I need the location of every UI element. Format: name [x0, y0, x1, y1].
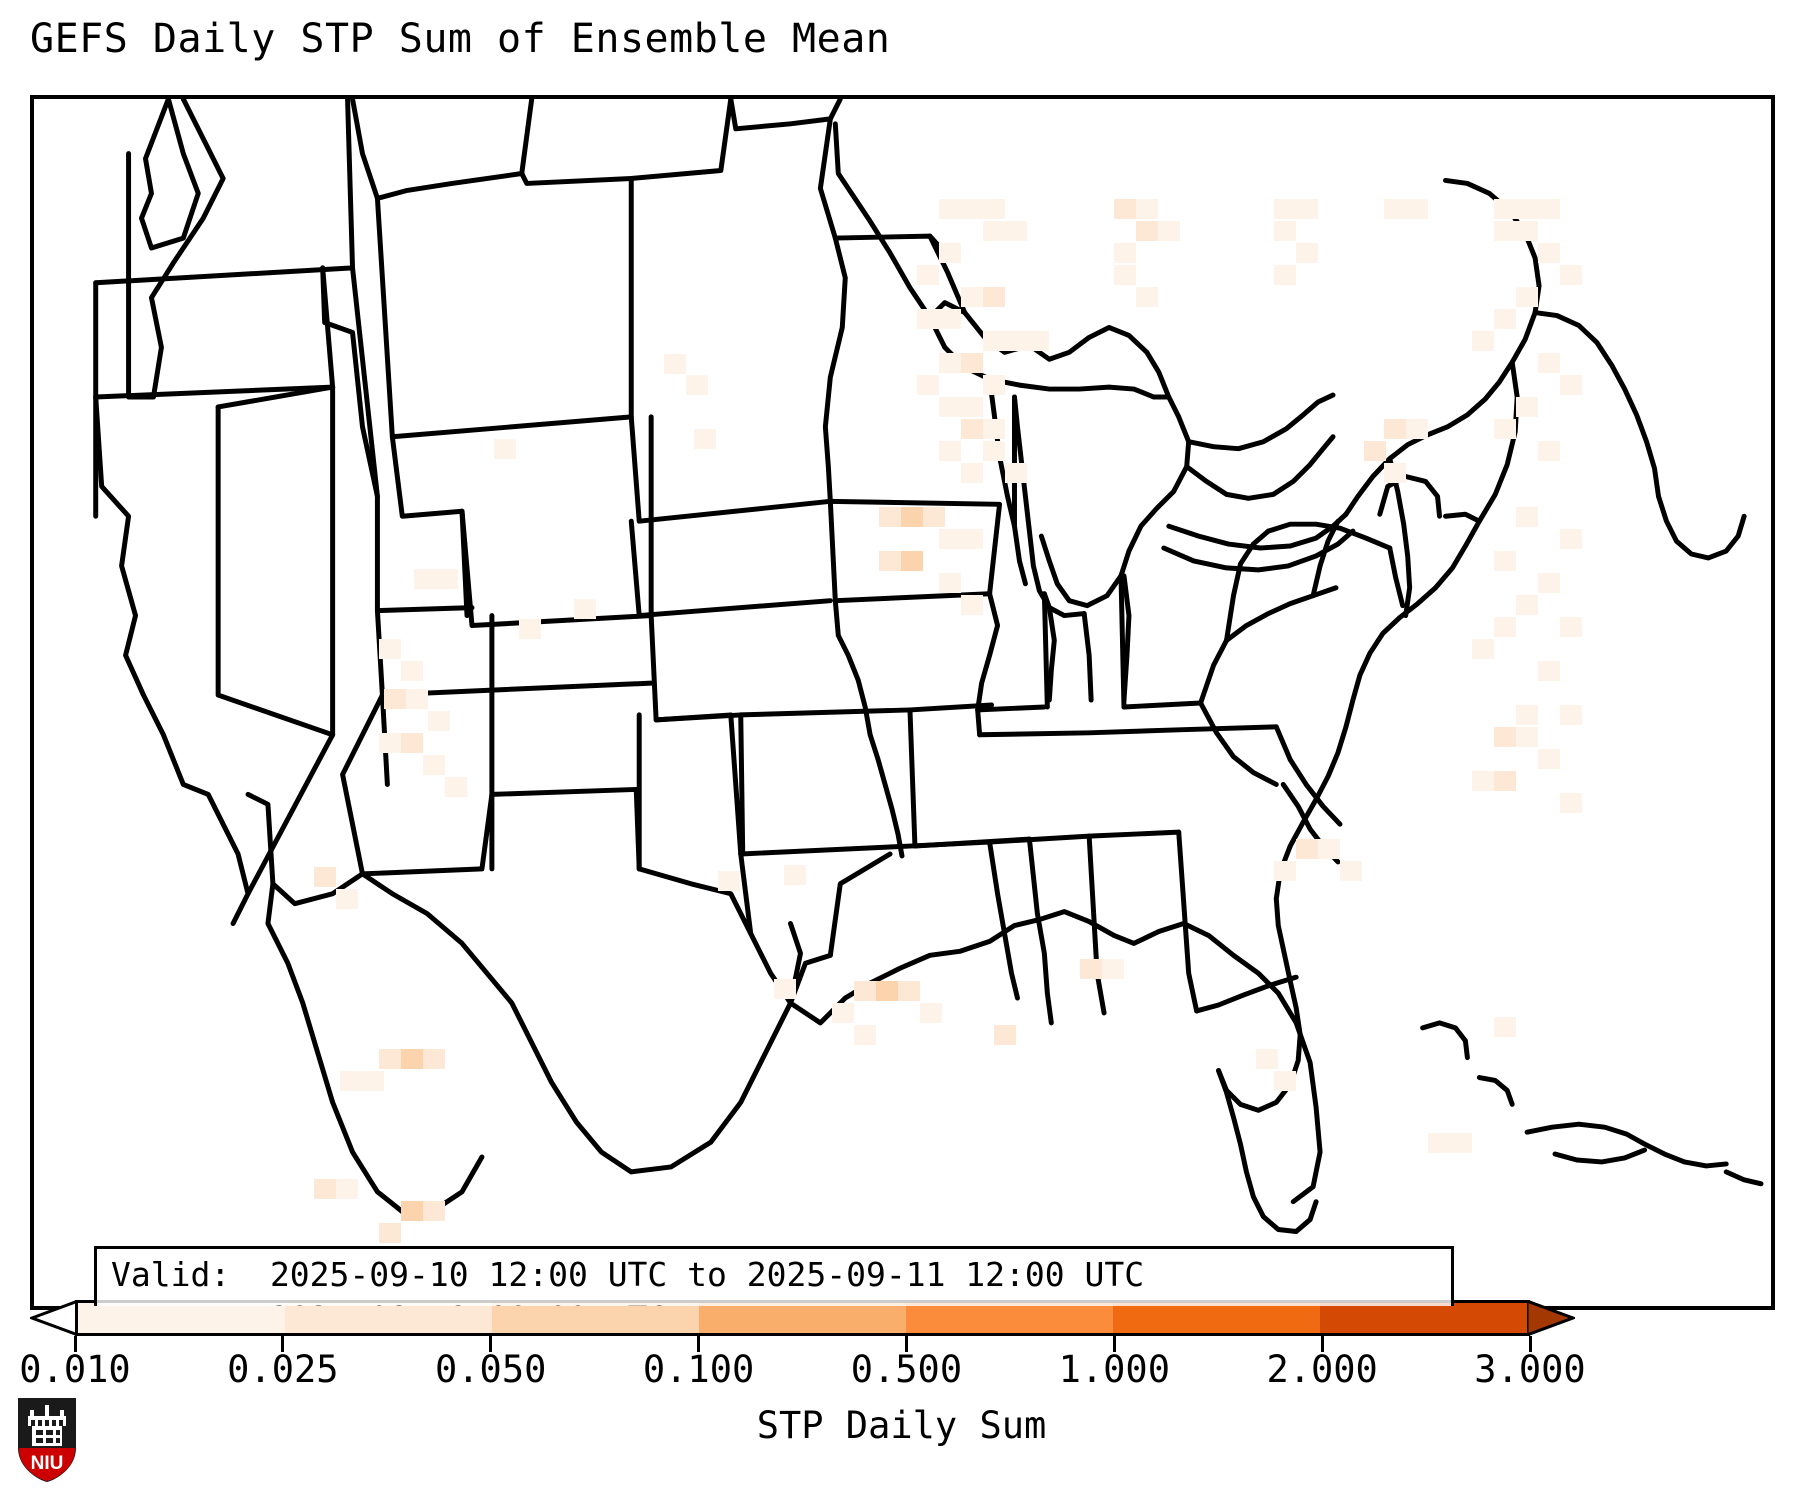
niu-logo-text: NIU	[31, 1453, 64, 1474]
stp-grid-cell	[1516, 727, 1538, 747]
stp-grid-cell	[379, 1223, 401, 1243]
colorbar-segment-6	[1320, 1303, 1527, 1333]
colorbar-tick-label-5: 1.000	[1059, 1348, 1170, 1391]
stp-grid-cell	[1494, 221, 1516, 241]
stp-grid-cell	[917, 265, 939, 285]
stp-grid-cell	[445, 777, 467, 797]
stp-grid-cell	[983, 331, 1005, 351]
stp-grid-cell	[923, 507, 945, 527]
stp-grid-cell	[939, 309, 961, 329]
stp-grid-cell	[1102, 959, 1124, 979]
stp-grid-cell	[1494, 617, 1516, 637]
stp-grid-cell	[379, 1049, 401, 1069]
stp-grid-cell	[574, 599, 596, 619]
stp-grid-cell	[694, 429, 716, 449]
stp-grid-cell	[939, 529, 961, 549]
stp-data-grid	[34, 99, 1771, 1306]
stp-grid-cell	[401, 661, 423, 681]
stp-grid-cell	[961, 353, 983, 373]
stp-grid-cell	[1494, 419, 1516, 439]
stp-grid-cell	[1274, 1071, 1296, 1091]
stp-grid-cell	[1538, 749, 1560, 769]
stp-grid-cell	[1274, 265, 1296, 285]
colorbar-tick-label-3: 0.100	[643, 1348, 754, 1391]
info-box: Valid: 2025-09-10 12:00 UTC to 2025-09-1…	[94, 1246, 1454, 1310]
stp-grid-cell	[1560, 375, 1582, 395]
stp-grid-cell	[1516, 705, 1538, 725]
stp-grid-cell	[384, 689, 406, 709]
colorbar-tick-label-6: 2.000	[1266, 1348, 1377, 1391]
stp-grid-cell	[1296, 243, 1318, 263]
stp-grid-cell	[1516, 595, 1538, 615]
stp-grid-cell	[1538, 243, 1560, 263]
colorbar-tick-label-7: 3.000	[1474, 1348, 1585, 1391]
stp-grid-cell	[1256, 1049, 1278, 1069]
colorbar-extend-right-arrow	[1527, 1300, 1575, 1336]
stp-grid-cell	[1516, 199, 1538, 219]
colorbar-axis-title: STP Daily Sum	[0, 1404, 1803, 1447]
stp-grid-cell	[879, 507, 901, 527]
colorbar-segment-4	[906, 1303, 1113, 1333]
stp-grid-cell	[1384, 199, 1406, 219]
stp-grid-cell	[1027, 331, 1049, 351]
stp-grid-cell	[406, 689, 428, 709]
stp-grid-cell	[961, 419, 983, 439]
stp-grid-cell	[920, 1003, 942, 1023]
stp-grid-cell	[1005, 463, 1027, 483]
stp-grid-cell	[939, 397, 961, 417]
colorbar-segment-3	[699, 1303, 906, 1333]
stp-grid-cell	[379, 639, 401, 659]
stp-grid-cell	[1538, 353, 1560, 373]
map-frame: Valid: 2025-09-10 12:00 UTC to 2025-09-1…	[30, 95, 1775, 1310]
stp-grid-cell	[961, 287, 983, 307]
stp-grid-cell	[1538, 573, 1560, 593]
stp-grid-cell	[1560, 265, 1582, 285]
stp-grid-cell	[664, 354, 686, 374]
stp-grid-cell	[879, 551, 901, 571]
stp-grid-cell	[423, 1201, 445, 1221]
stp-grid-cell	[718, 871, 740, 891]
stp-grid-cell	[1406, 419, 1428, 439]
colorbar-tick-label-1: 0.025	[227, 1348, 338, 1391]
stp-grid-cell	[1494, 199, 1516, 219]
stp-grid-cell	[917, 309, 939, 329]
stp-grid-cell	[401, 733, 423, 753]
stp-grid-cell	[994, 1025, 1016, 1045]
stp-grid-cell	[876, 981, 898, 1001]
colorbar-tick-label-4: 0.500	[851, 1348, 962, 1391]
stp-grid-cell	[336, 889, 358, 909]
stp-grid-cell	[401, 1049, 423, 1069]
stp-grid-cell	[1114, 199, 1136, 219]
stp-grid-cell	[983, 221, 1005, 241]
stp-grid-cell	[1560, 617, 1582, 637]
stp-grid-cell	[314, 1179, 336, 1199]
stp-grid-cell	[1472, 639, 1494, 659]
stp-grid-cell	[362, 1071, 384, 1091]
colorbar-extend-left-arrow	[30, 1300, 78, 1336]
colorbar-tick-labels: 0.0100.0250.0500.1000.5001.0002.0003.000	[0, 1348, 1803, 1396]
colorbar-segment-2	[492, 1303, 699, 1333]
colorbar-segment-0	[78, 1303, 285, 1333]
stp-grid-cell	[939, 573, 961, 593]
stp-grid-cell	[1136, 221, 1158, 241]
stp-grid-cell	[1384, 419, 1406, 439]
stp-grid-cell	[494, 439, 516, 459]
stp-grid-cell	[1136, 287, 1158, 307]
stp-grid-cell	[1384, 463, 1406, 483]
stp-grid-cell	[939, 441, 961, 461]
stp-grid-cell	[1114, 243, 1136, 263]
stp-grid-cell	[901, 551, 923, 571]
stp-grid-cell	[1560, 705, 1582, 725]
stp-grid-cell	[1538, 441, 1560, 461]
stp-grid-cell	[1494, 551, 1516, 571]
niu-logo: NIU	[16, 1396, 78, 1484]
stp-grid-cell	[961, 463, 983, 483]
stp-grid-cell	[784, 865, 806, 885]
stp-grid-cell	[961, 529, 983, 549]
stp-grid-cell	[1428, 1133, 1450, 1153]
stp-grid-cell	[1450, 1133, 1472, 1153]
stp-grid-cell	[854, 1025, 876, 1045]
stp-grid-cell	[1538, 661, 1560, 681]
stp-grid-cell	[917, 375, 939, 395]
stp-grid-cell	[1560, 529, 1582, 549]
stp-grid-cell	[1494, 771, 1516, 791]
stp-grid-cell	[854, 981, 876, 1001]
valid-time-text: Valid: 2025-09-10 12:00 UTC to 2025-09-1…	[111, 1255, 1144, 1294]
stp-grid-cell	[340, 1071, 362, 1091]
stp-grid-cell	[983, 287, 1005, 307]
stp-grid-cell	[1494, 309, 1516, 329]
stp-grid-cell	[898, 981, 920, 1001]
stp-grid-cell	[939, 243, 961, 263]
stp-grid-cell	[832, 1003, 854, 1023]
stp-grid-cell	[1560, 793, 1582, 813]
colorbar-segment-5	[1113, 1303, 1320, 1333]
stp-grid-cell	[1296, 199, 1318, 219]
stp-grid-cell	[961, 595, 983, 615]
stp-grid-cell	[1406, 199, 1428, 219]
stp-grid-cell	[774, 979, 796, 999]
stp-grid-cell	[983, 375, 1005, 395]
stp-grid-cell	[1538, 199, 1560, 219]
stp-grid-cell	[428, 711, 450, 731]
stp-grid-cell	[939, 199, 961, 219]
stp-grid-cell	[1516, 397, 1538, 417]
stp-grid-cell	[423, 1049, 445, 1069]
stp-grid-cell	[1516, 287, 1538, 307]
stp-grid-cell	[379, 733, 401, 753]
stp-grid-cell	[1274, 199, 1296, 219]
stp-grid-cell	[983, 441, 1005, 461]
stp-grid-cell	[901, 507, 923, 527]
stp-grid-cell	[983, 199, 1005, 219]
stp-grid-cell	[1136, 199, 1158, 219]
stp-grid-cell	[961, 199, 983, 219]
stp-grid-cell	[961, 397, 983, 417]
stp-grid-cell	[336, 1179, 358, 1199]
colorbar-segment-1	[285, 1303, 492, 1333]
stp-grid-cell	[1005, 331, 1027, 351]
stp-grid-cell	[1114, 265, 1136, 285]
stp-grid-cell	[1296, 839, 1318, 859]
stp-grid-cell	[401, 1201, 423, 1221]
stp-grid-cell	[1158, 221, 1180, 241]
stp-grid-cell	[1494, 1017, 1516, 1037]
stp-grid-cell	[1005, 221, 1027, 241]
stp-grid-cell	[939, 353, 961, 373]
stp-grid-cell	[1494, 727, 1516, 747]
colorbar-tick-label-0: 0.010	[19, 1348, 130, 1391]
stp-grid-cell	[519, 619, 541, 639]
stp-grid-cell	[1472, 331, 1494, 351]
stp-grid-cell	[1274, 861, 1296, 881]
stp-grid-cell	[1340, 861, 1362, 881]
stp-grid-cell	[983, 419, 1005, 439]
stp-grid-cell	[1472, 771, 1494, 791]
stp-grid-cell	[1080, 959, 1102, 979]
stp-grid-cell	[436, 569, 458, 589]
stp-grid-cell	[1274, 221, 1296, 241]
figure-root: GEFS Daily STP Sum of Ensemble Mean	[0, 0, 1803, 1500]
stp-grid-cell	[1516, 507, 1538, 527]
colorbar-tick-label-2: 0.050	[435, 1348, 546, 1391]
stp-grid-cell	[686, 375, 708, 395]
stp-grid-cell	[1318, 839, 1340, 859]
stp-grid-cell	[423, 755, 445, 775]
stp-grid-cell	[1516, 221, 1538, 241]
stp-grid-cell	[314, 867, 336, 887]
stp-grid-cell	[1364, 441, 1386, 461]
stp-grid-cell	[414, 569, 436, 589]
page-title: GEFS Daily STP Sum of Ensemble Mean	[30, 16, 890, 62]
